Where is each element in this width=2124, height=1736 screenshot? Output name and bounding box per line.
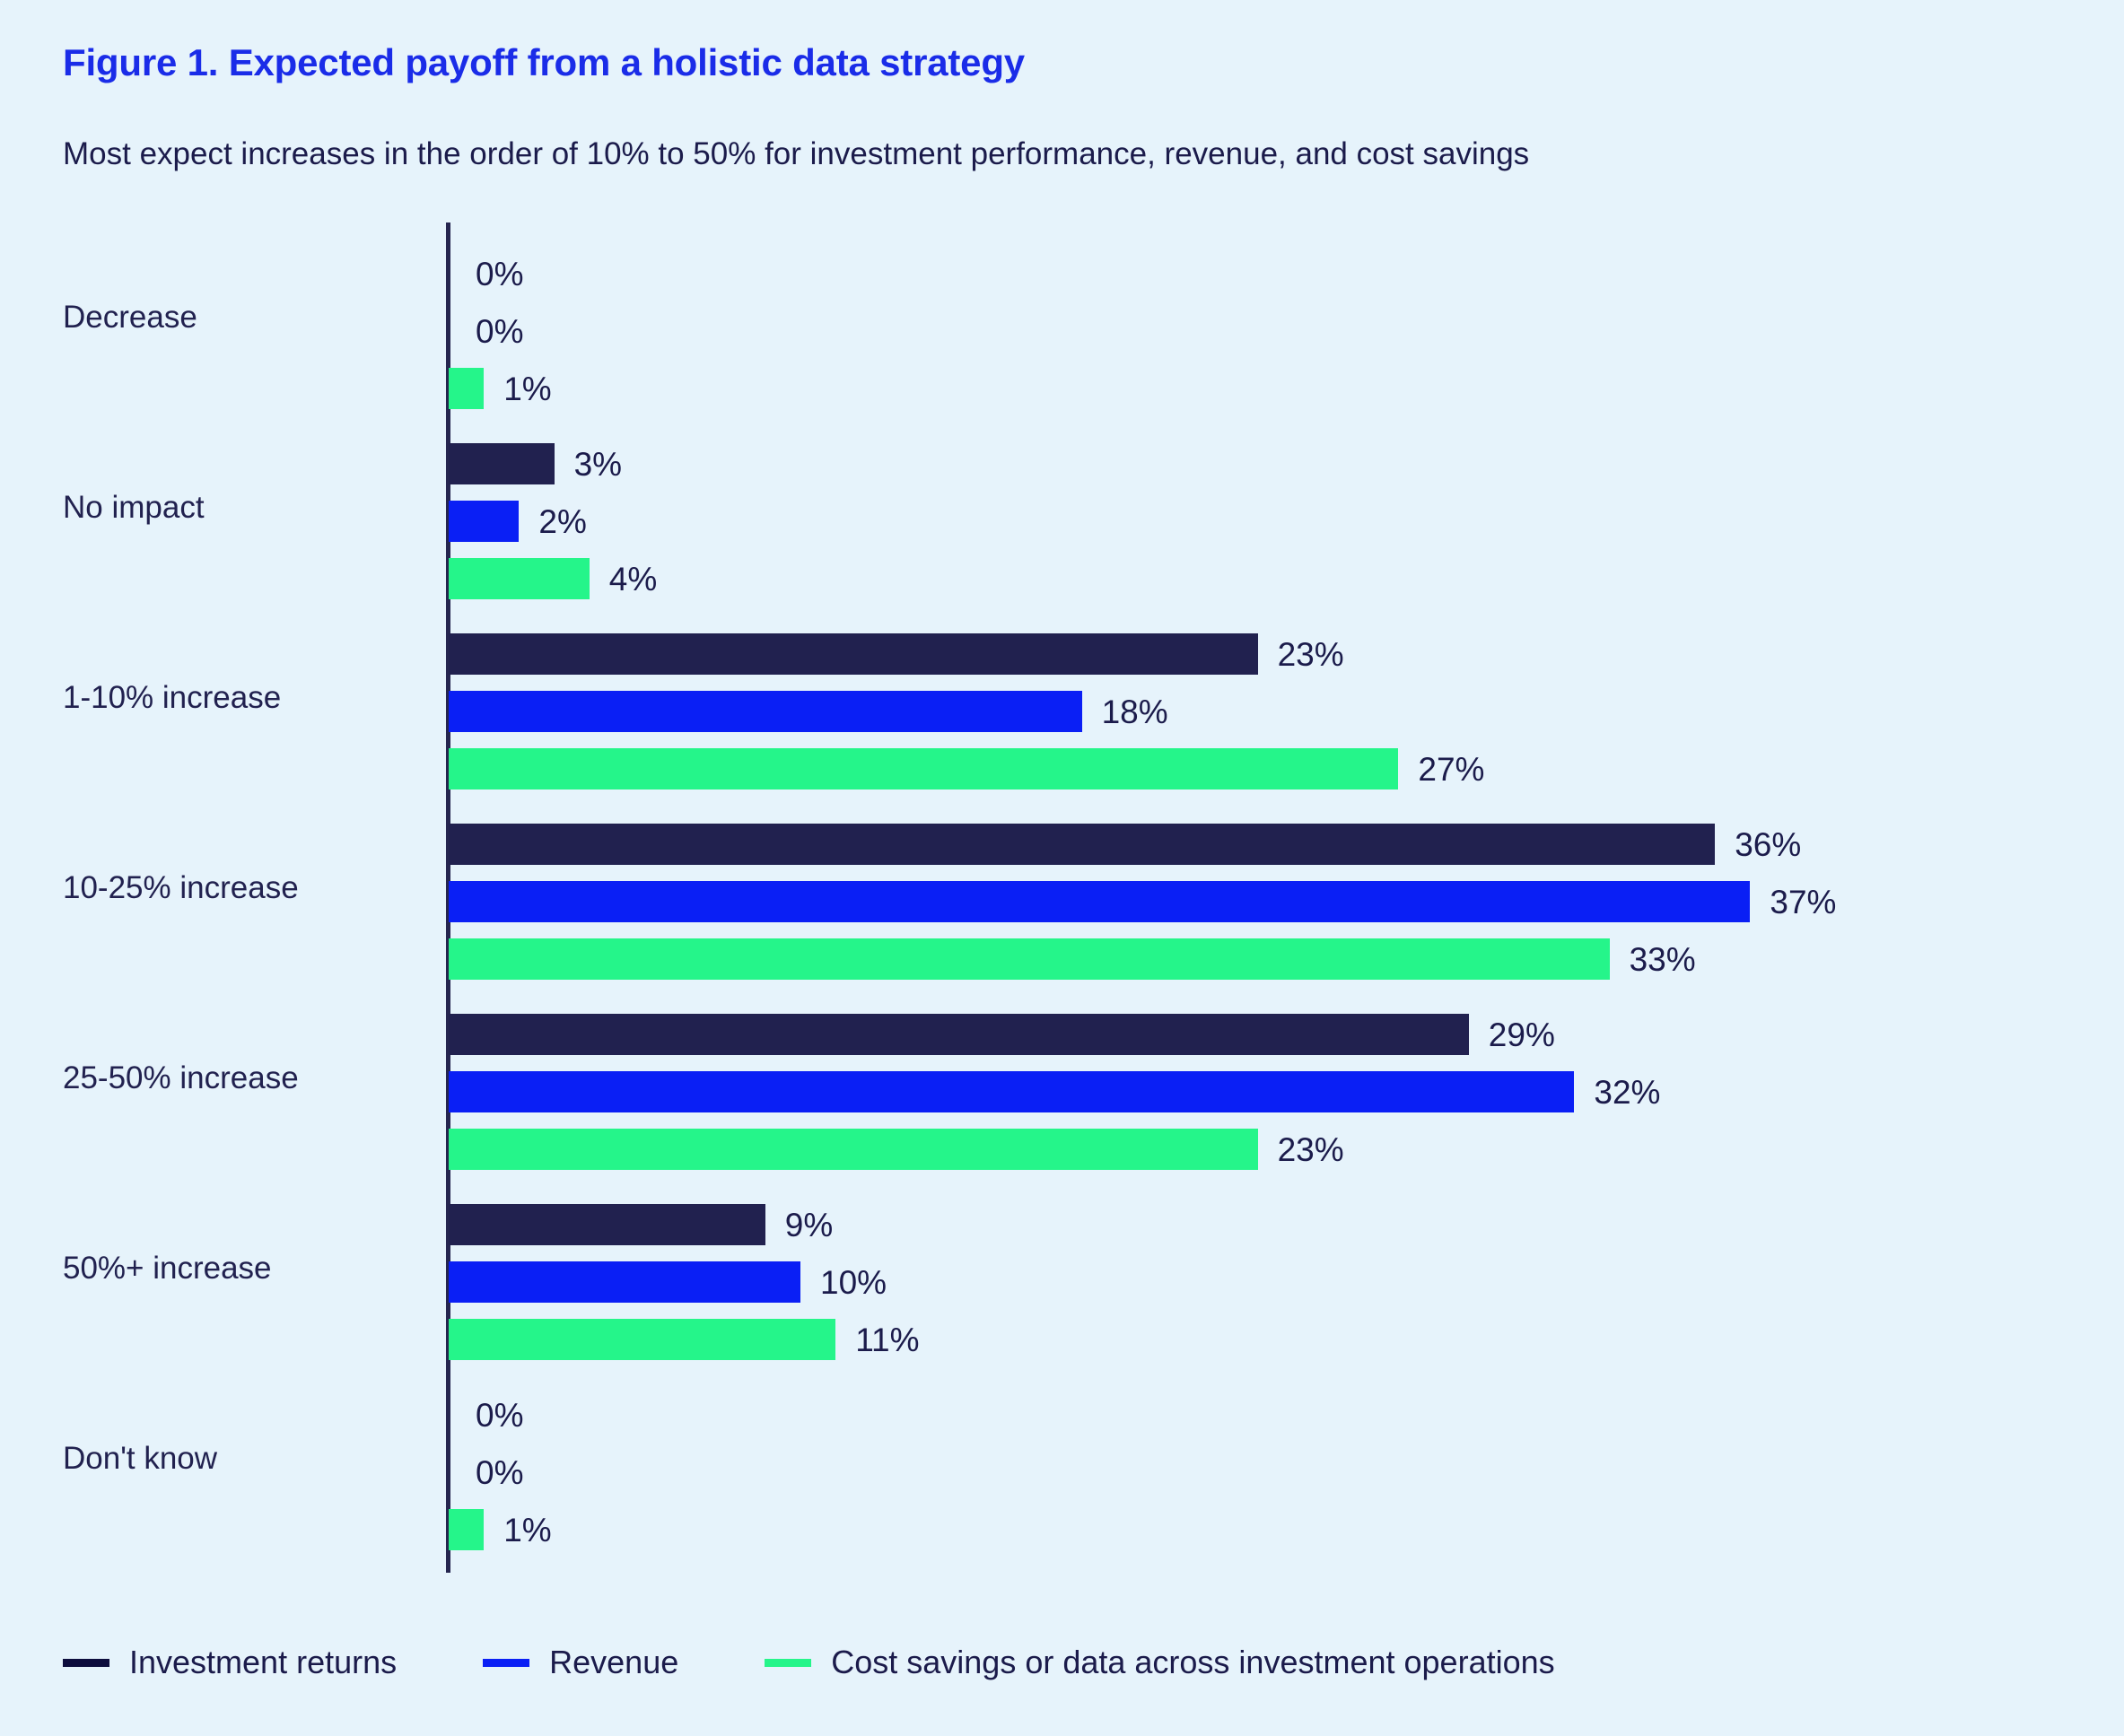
bar (449, 881, 1750, 922)
bar-row: 3% (449, 443, 622, 484)
bar (449, 824, 1715, 865)
legend-label: Revenue (549, 1644, 678, 1681)
bar (449, 1261, 800, 1303)
bar-row: 9% (449, 1204, 833, 1245)
bar (449, 938, 1610, 980)
bar-value-label: 3% (574, 448, 622, 481)
chart-legend: Investment returnsRevenueCost savings or… (63, 1644, 1555, 1681)
bar-row: 23% (449, 1129, 1344, 1170)
chart-plot-area: Decrease0%0%1%No impact3%2%4%1-10% incre… (0, 222, 2124, 1577)
bar (449, 691, 1082, 732)
bar-value-label: 4% (609, 563, 657, 596)
bar-value-label: 37% (1770, 885, 1836, 919)
bar-group: Decrease0%0%1% (0, 222, 2124, 413)
bar-row: 18% (449, 691, 1168, 732)
bar-group: 1-10% increase23%18%27% (0, 603, 2124, 793)
bar-value-label: 0% (476, 1399, 523, 1432)
bar-row: 27% (449, 748, 1484, 789)
bar-row: 0% (449, 1452, 523, 1493)
bar (449, 1319, 835, 1360)
bar (449, 748, 1398, 789)
bar-row: 4% (449, 558, 657, 599)
bar-value-label: 33% (1630, 943, 1696, 976)
bar-value-label: 18% (1102, 695, 1168, 728)
bar-value-label: 36% (1735, 828, 1801, 861)
bar (449, 443, 555, 484)
figure-subtitle: Most expect increases in the order of 10… (63, 136, 1529, 172)
bar-row: 36% (449, 824, 1801, 865)
bar-row: 11% (449, 1319, 920, 1360)
bar-group: 50%+ increase9%10%11% (0, 1173, 2124, 1364)
line-marker-icon (483, 1659, 529, 1667)
category-label: 1-10% increase (63, 680, 281, 716)
bar-row: 1% (449, 368, 552, 409)
bar-value-label: 2% (538, 505, 586, 538)
bar (449, 558, 590, 599)
bar-group: No impact3%2%4% (0, 413, 2124, 603)
legend-item[interactable]: Revenue (483, 1644, 678, 1681)
bar-row: 33% (449, 938, 1696, 980)
line-marker-icon (63, 1659, 109, 1667)
bar-value-label: 0% (476, 1456, 523, 1489)
figure-page: Figure 1. Expected payoff from a holisti… (0, 0, 2124, 1736)
category-label: 10-25% increase (63, 870, 299, 906)
bar-value-label: 11% (855, 1323, 919, 1357)
bar-row: 0% (449, 1394, 523, 1435)
bar-value-label: 29% (1489, 1018, 1555, 1051)
category-label: Decrease (63, 300, 197, 336)
bar (449, 501, 519, 542)
bar (449, 1071, 1574, 1112)
bar-value-label: 0% (476, 257, 523, 291)
bar-row: 32% (449, 1071, 1660, 1112)
bar-groups: Decrease0%0%1%No impact3%2%4%1-10% incre… (0, 222, 2124, 1554)
bar-row: 2% (449, 501, 587, 542)
legend-item[interactable]: Investment returns (63, 1644, 397, 1681)
bar-value-label: 32% (1594, 1076, 1660, 1109)
legend-label: Cost savings or data across investment o… (831, 1644, 1554, 1681)
bar (449, 1509, 484, 1550)
bar-value-label: 1% (503, 372, 551, 406)
bar-value-label: 23% (1278, 1133, 1344, 1166)
bar (449, 1129, 1258, 1170)
category-label: 50%+ increase (63, 1251, 272, 1287)
bar-value-label: 1% (503, 1514, 551, 1547)
bar-row: 10% (449, 1261, 887, 1303)
bar (449, 633, 1258, 675)
bar-row: 23% (449, 633, 1344, 675)
bar-row: 0% (449, 310, 523, 352)
bar-value-label: 9% (785, 1208, 833, 1242)
bar (449, 1014, 1469, 1055)
bar-row: 0% (449, 253, 523, 294)
bar-group: Don't know0%0%1% (0, 1364, 2124, 1554)
legend-item[interactable]: Cost savings or data across investment o… (765, 1644, 1554, 1681)
page-title: Figure 1. Expected payoff from a holisti… (63, 41, 1025, 84)
bar-value-label: 27% (1418, 753, 1484, 786)
category-label: No impact (63, 490, 205, 526)
bar (449, 368, 484, 409)
bar-group: 10-25% increase36%37%33% (0, 793, 2124, 983)
bar-row: 1% (449, 1509, 552, 1550)
line-marker-icon (765, 1659, 811, 1667)
bar (449, 1204, 765, 1245)
legend-label: Investment returns (129, 1644, 397, 1681)
bar-value-label: 23% (1278, 638, 1344, 671)
bar-value-label: 10% (820, 1266, 887, 1299)
bar-value-label: 0% (476, 315, 523, 348)
category-label: 25-50% increase (63, 1060, 299, 1096)
bar-row: 29% (449, 1014, 1555, 1055)
bar-group: 25-50% increase29%32%23% (0, 983, 2124, 1173)
category-label: Don't know (63, 1441, 217, 1477)
bar-row: 37% (449, 881, 1836, 922)
